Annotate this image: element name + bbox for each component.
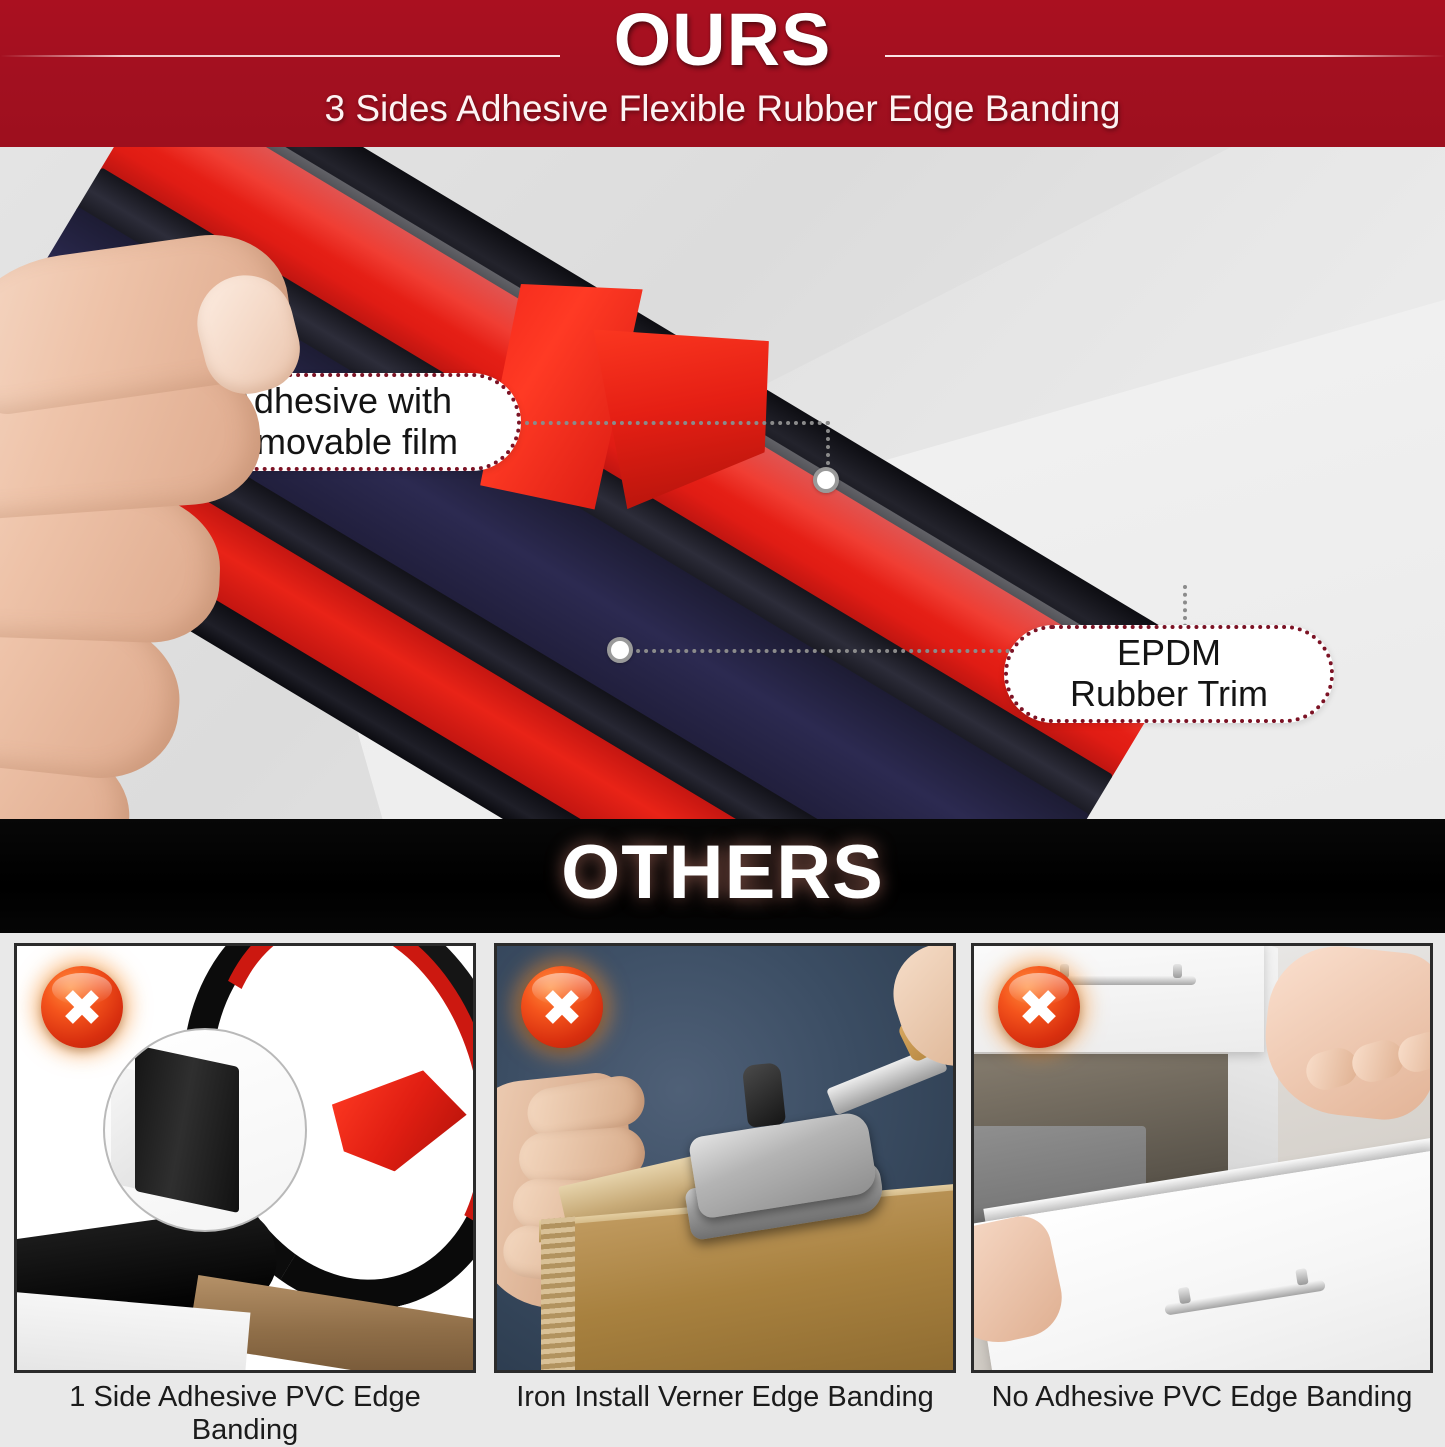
ours-title: OURS — [0, 2, 1445, 77]
panel-2-caption: Iron Install Verner Edge Banding — [494, 1381, 956, 1414]
x-icon — [58, 983, 106, 1031]
panel-3-caption: No Adhesive PVC Edge Banding — [971, 1381, 1433, 1414]
marker-adhesive — [813, 467, 839, 493]
others-panel-2 — [494, 943, 956, 1373]
others-title: OTHERS — [0, 829, 1445, 916]
others-panels-row: 1 Side Adhesive PVC Edge Banding Iron In… — [0, 933, 1445, 1445]
callout-epdm-text: EPDM Rubber Trim — [1070, 633, 1268, 714]
panel-1-caption: 1 Side Adhesive PVC Edge Banding — [14, 1381, 476, 1447]
others-panel-1 — [14, 943, 476, 1373]
x-icon — [1015, 983, 1063, 1031]
leader-line-adhesive-horizontal — [525, 421, 830, 425]
callout-epdm-line1: EPDM — [1117, 632, 1221, 673]
others-panel-3 — [971, 943, 1433, 1373]
x-badge-panel-2 — [521, 966, 603, 1048]
leader-line-adhesive-vertical — [826, 421, 830, 473]
others-header-band: OTHERS — [0, 819, 1445, 933]
x-badge-panel-3 — [998, 966, 1080, 1048]
marker-epdm — [607, 637, 633, 663]
ours-subtitle: 3 Sides Adhesive Flexible Rubber Edge Ba… — [0, 88, 1445, 130]
ours-header-band: OURS 3 Sides Adhesive Flexible Rubber Ed… — [0, 0, 1445, 147]
x-badge-panel-1 — [41, 966, 123, 1048]
x-icon — [538, 983, 586, 1031]
comparison-infographic: OURS 3 Sides Adhesive Flexible Rubber Ed… — [0, 0, 1445, 1445]
callout-epdm-rubber-trim: EPDM Rubber Trim — [1004, 625, 1334, 723]
inset-black-edge — [135, 1045, 239, 1213]
plywood-layers — [541, 1217, 575, 1373]
ours-hero-image: Adhesive with removable film EPDM Rubber… — [0, 147, 1445, 819]
detail-inset-circle — [103, 1028, 307, 1232]
hand-holding-trim — [0, 227, 400, 819]
iron-knob — [742, 1062, 786, 1128]
callout-epdm-line2: Rubber Trim — [1070, 673, 1268, 714]
